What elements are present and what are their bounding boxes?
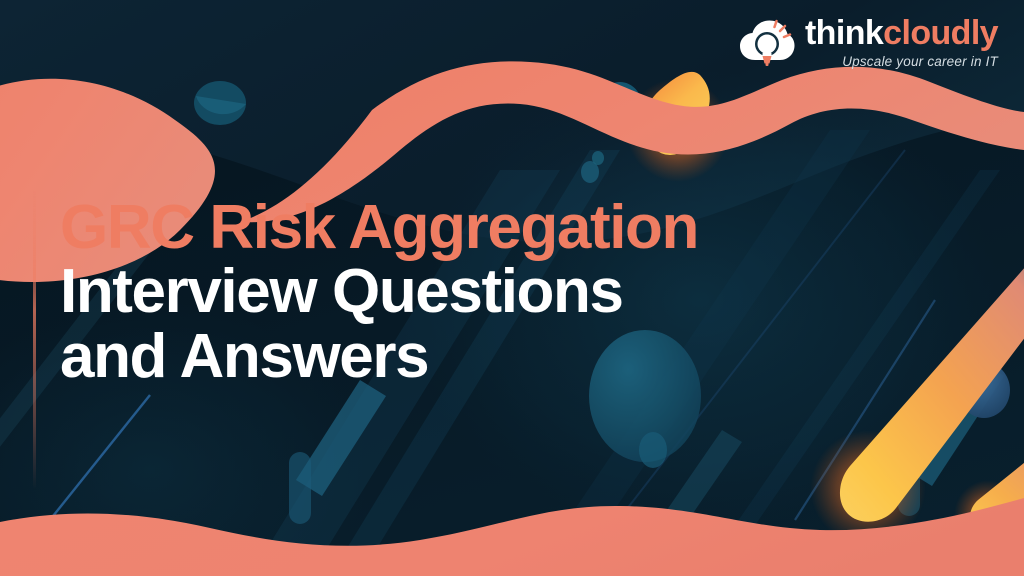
wordmark-cloudly: cloudly [883, 14, 998, 52]
teal-dot-mid [639, 432, 667, 468]
headline-line-3: and Answers [60, 325, 698, 389]
headline-line-2: Interview Questions [60, 260, 698, 324]
brand-tagline: Upscale your career in IT [842, 55, 998, 69]
vertical-accent-bar [33, 190, 36, 490]
brand-text-block: thinkcloudly Upscale your career in IT [805, 16, 998, 69]
promo-banner: thinkcloudly Upscale your career in IT G… [0, 0, 1024, 576]
brand-wordmark: thinkcloudly [805, 16, 998, 50]
teal-dot-tiny [592, 151, 604, 165]
headline-block: GRC Risk Aggregation Interview Questions… [60, 196, 698, 389]
headline-line-1: GRC Risk Aggregation [60, 196, 698, 260]
cloud-lightbulb-icon [739, 16, 795, 68]
brand-logo-lockup[interactable]: thinkcloudly Upscale your career in IT [739, 16, 998, 69]
wordmark-think: think [805, 14, 883, 52]
